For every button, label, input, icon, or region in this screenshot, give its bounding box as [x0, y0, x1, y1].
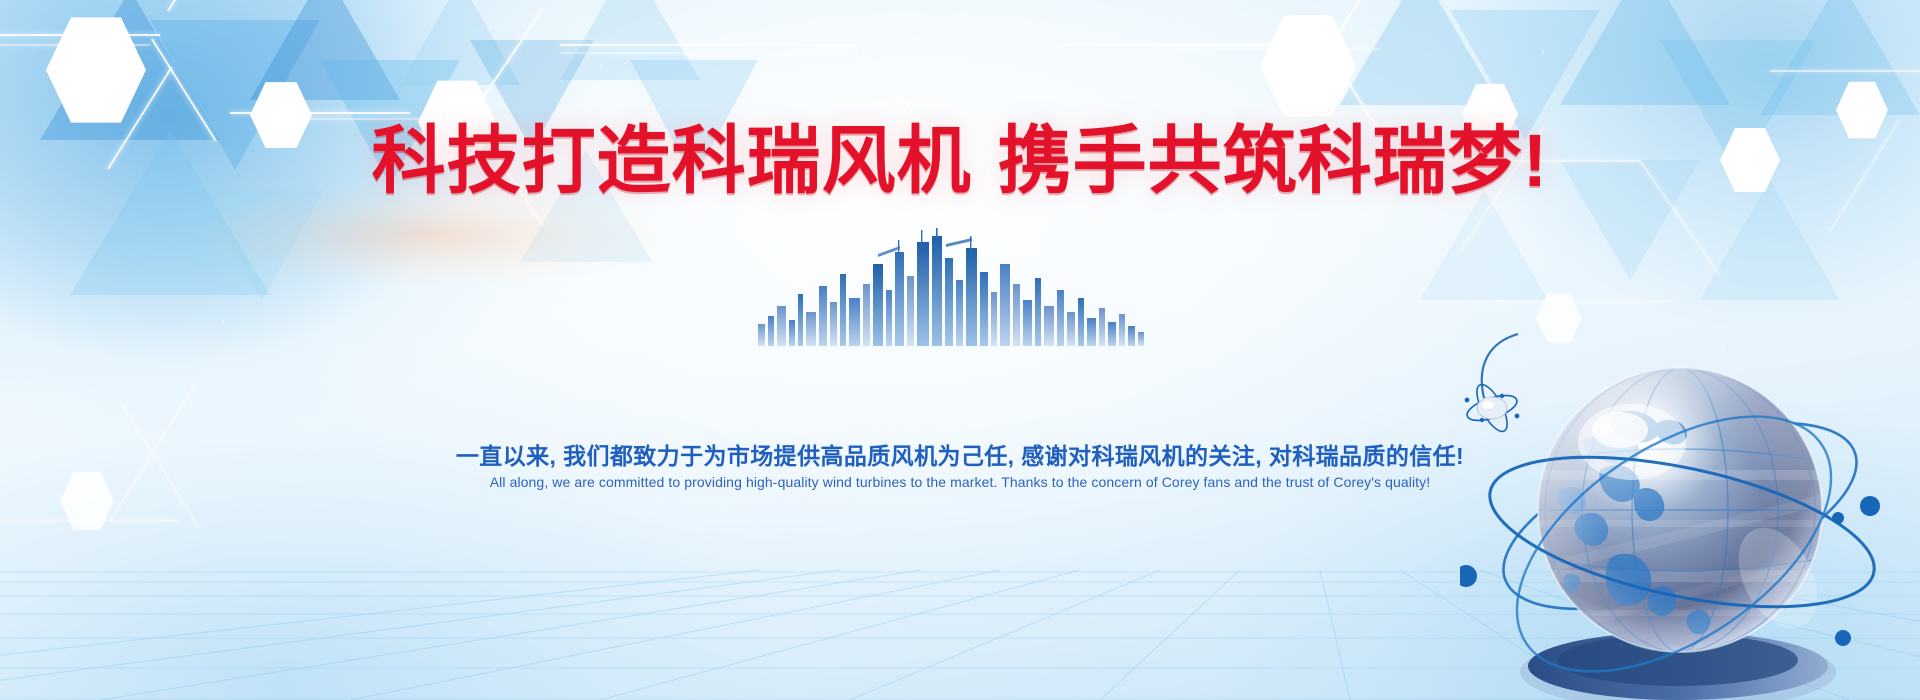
banner-headline: 科技打造科瑞风机携手共筑科瑞梦! [0, 124, 1920, 198]
headline-part-1: 科技打造科瑞风机 [372, 119, 972, 202]
satellite-icon [1464, 380, 1520, 435]
promo-banner: 科技打造科瑞风机携手共筑科瑞梦! [0, 0, 1920, 700]
orbit-node [1832, 512, 1844, 524]
orbit-node [1460, 565, 1477, 587]
hexagon-node [46, 14, 146, 126]
left-blue-wash [0, 0, 700, 480]
orbit-node [1860, 496, 1880, 516]
city-skyline-graphic [750, 228, 1170, 346]
headline-part-2: 携手共筑科瑞梦! [998, 119, 1549, 202]
orbit-node [1835, 630, 1851, 646]
hexagon-node [1260, 12, 1356, 120]
globe-graphic [1460, 320, 1910, 700]
